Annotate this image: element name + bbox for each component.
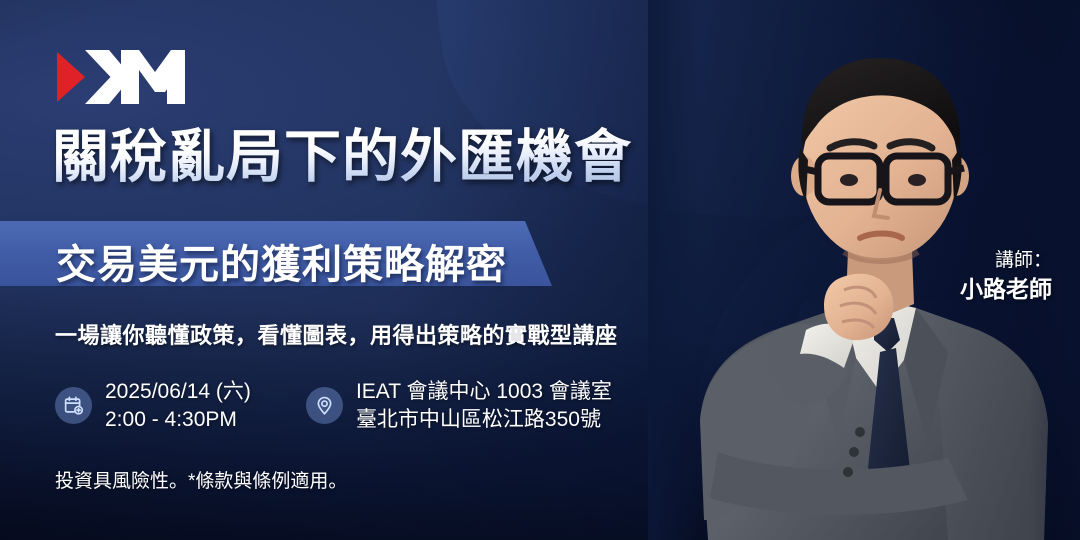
speaker-name: 小路老師: [960, 274, 1052, 306]
location-pin-icon: [306, 387, 343, 424]
speaker-credit: 講師： 小路老師: [960, 248, 1052, 306]
disclaimer: 投資具風險性。*條款與條例適用。: [55, 466, 347, 493]
promotional-banner: 關稅亂局下的外匯機會 交易美元的獲利策略解密 一場讓你聽懂政策，看懂圖表，用得出…: [0, 0, 1080, 540]
event-date-item: 2025/06/14 (六) 2:00 - 4:30PM: [55, 378, 251, 433]
event-info: 2025/06/14 (六) 2:00 - 4:30PM IEAT 會議中心 1…: [55, 378, 612, 433]
venue-name: IEAT 會議中心 1003 會議室: [356, 378, 612, 406]
venue-address: 臺北市中山區松江路350號: [356, 406, 612, 434]
speaker-role-label: 講師：: [960, 248, 1052, 274]
event-time: 2:00 - 4:30PM: [105, 406, 251, 434]
page-title: 關稅亂局下的外匯機會: [52, 126, 632, 190]
xm-logo[interactable]: [55, 44, 185, 110]
event-date: 2025/06/14 (六): [105, 378, 251, 406]
page-subtitle: 交易美元的獲利策略解密: [56, 232, 507, 290]
event-venue-item: IEAT 會議中心 1003 會議室 臺北市中山區松江路350號: [306, 378, 612, 433]
logo-arrow-icon: [57, 52, 85, 102]
tagline: 一場讓你聽懂政策，看懂圖表，用得出策略的實戰型講座: [55, 318, 618, 350]
calendar-plus-icon: [55, 387, 92, 424]
